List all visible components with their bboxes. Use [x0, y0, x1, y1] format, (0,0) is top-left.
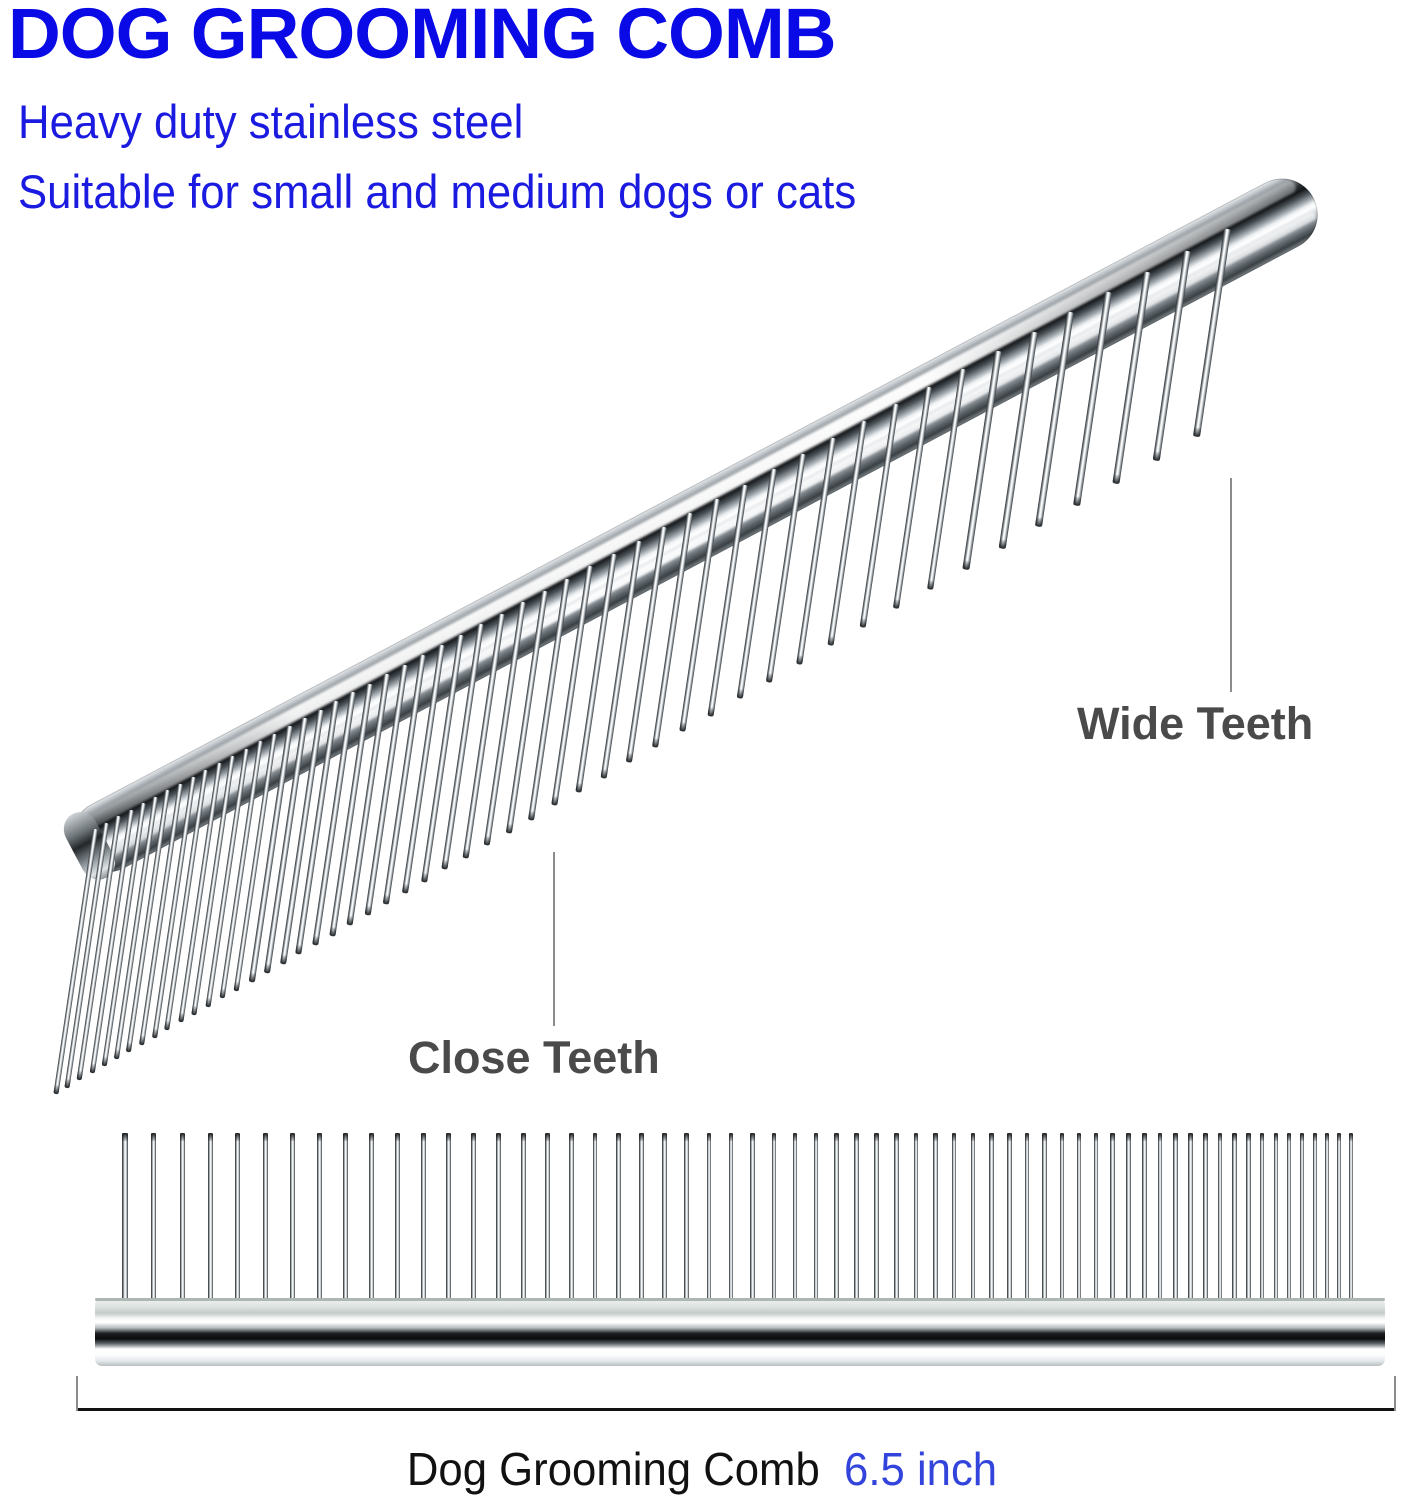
caption-product-name: Dog Grooming Comb: [407, 1443, 820, 1495]
dimension-bracket: [0, 0, 1404, 1500]
dimension-line: [76, 1408, 1396, 1411]
dimension-tick-left: [76, 1376, 78, 1411]
dimension-tick-right: [1394, 1376, 1396, 1411]
dimension-caption: Dog Grooming Comb 6.5 inch: [35, 1442, 1369, 1496]
caption-size: 6.5 inch: [844, 1443, 997, 1495]
product-image-canvas: DOG GROOMING COMB Heavy duty stainless s…: [0, 0, 1404, 1500]
